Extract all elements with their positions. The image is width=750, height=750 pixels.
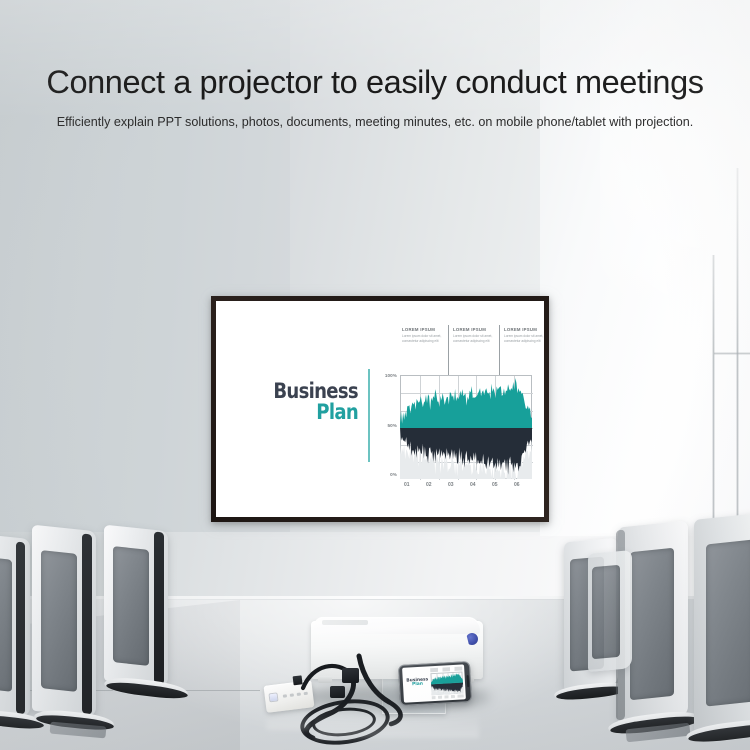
x-tick-label: 05 [492, 482, 498, 488]
phone-chart-svg [430, 671, 463, 695]
cable-plug-head-1 [342, 668, 359, 683]
x-tick-label: 02 [426, 482, 432, 488]
y-tick-label: 0% [390, 472, 397, 477]
callout-body: Lorem ipsum dolor sit amet, consectetur … [504, 334, 544, 343]
projector-cable [359, 656, 389, 702]
chair-left-4 [0, 556, 34, 750]
chart-x-axis-labels: 01 02 03 04 05 06 [400, 482, 532, 492]
chart-callout-group: LOREM IPSUM Lorem ipsum dolor sit amet, … [400, 325, 540, 377]
callout-leader-line [499, 325, 500, 375]
promo-scene: Connect a projector to easily conduct me… [0, 0, 750, 750]
ceiling-light-wash [0, 0, 750, 120]
chart-y-axis-labels: 100% 50% 0% [370, 375, 397, 479]
x-tick-label: 03 [448, 482, 454, 488]
callout-body: Lorem ipsum dolor sit amet, consectetur … [402, 334, 444, 343]
chair-left-3 [104, 528, 234, 728]
cable-plug-head-2 [330, 686, 345, 698]
page-title: Connect a projector to easily conduct me… [0, 66, 750, 99]
chart-series-area [400, 375, 532, 479]
page-subtitle: Efficiently explain PPT solutions, photo… [36, 113, 714, 131]
projection-screen-surface: Business Plan LOREM IPSUM Lorem ipsum do… [216, 301, 544, 517]
callout-body: Lorem ipsum dolor sit amet, consectetur … [453, 334, 495, 343]
chart-svg [400, 375, 532, 479]
callout-title: LOREM IPSUM [402, 327, 444, 332]
y-tick-label: 50% [388, 423, 398, 428]
chart-callout: LOREM IPSUM Lorem ipsum dolor sit amet, … [402, 327, 444, 343]
projection-screen-frame: Business Plan LOREM IPSUM Lorem ipsum do… [211, 296, 549, 522]
callout-leader-line [448, 325, 449, 375]
phone-side-button[interactable] [467, 675, 470, 687]
chair-right-3 [690, 516, 750, 750]
projector-reflection [315, 712, 479, 738]
slide-chart: 100% 50% 0% 01 02 03 04 05 06 [400, 375, 532, 479]
slide-title: Business Plan [238, 381, 358, 423]
y-tick-label: 100% [385, 373, 397, 378]
x-tick-label: 04 [470, 482, 476, 488]
callout-title: LOREM IPSUM [504, 327, 544, 332]
smartphone-screen[interactable]: Business Plan [402, 664, 466, 702]
phone-slide-title-line2: Plan [406, 683, 428, 689]
chart-callout: LOREM IPSUM Lorem ipsum dolor sit amet, … [453, 327, 495, 343]
phone-chart-x-labels [431, 694, 463, 699]
presentation-slide: Business Plan LOREM IPSUM Lorem ipsum do… [216, 301, 544, 517]
chair-right-4 [578, 548, 668, 708]
slide-title-line2: Plan [255, 402, 358, 423]
x-tick-label: 01 [404, 482, 410, 488]
adapter-reflection [266, 710, 310, 730]
phone-slide-title: Business Plan [406, 678, 428, 688]
smartphone[interactable]: Business Plan [398, 661, 472, 706]
projector-vent [322, 620, 368, 625]
phone-chart [430, 671, 463, 695]
slide-title-line1: Business [255, 381, 358, 402]
x-tick-label: 06 [514, 482, 520, 488]
chart-callout: LOREM IPSUM Lorem ipsum dolor sit amet, … [504, 327, 544, 343]
callout-title: LOREM IPSUM [453, 327, 495, 332]
